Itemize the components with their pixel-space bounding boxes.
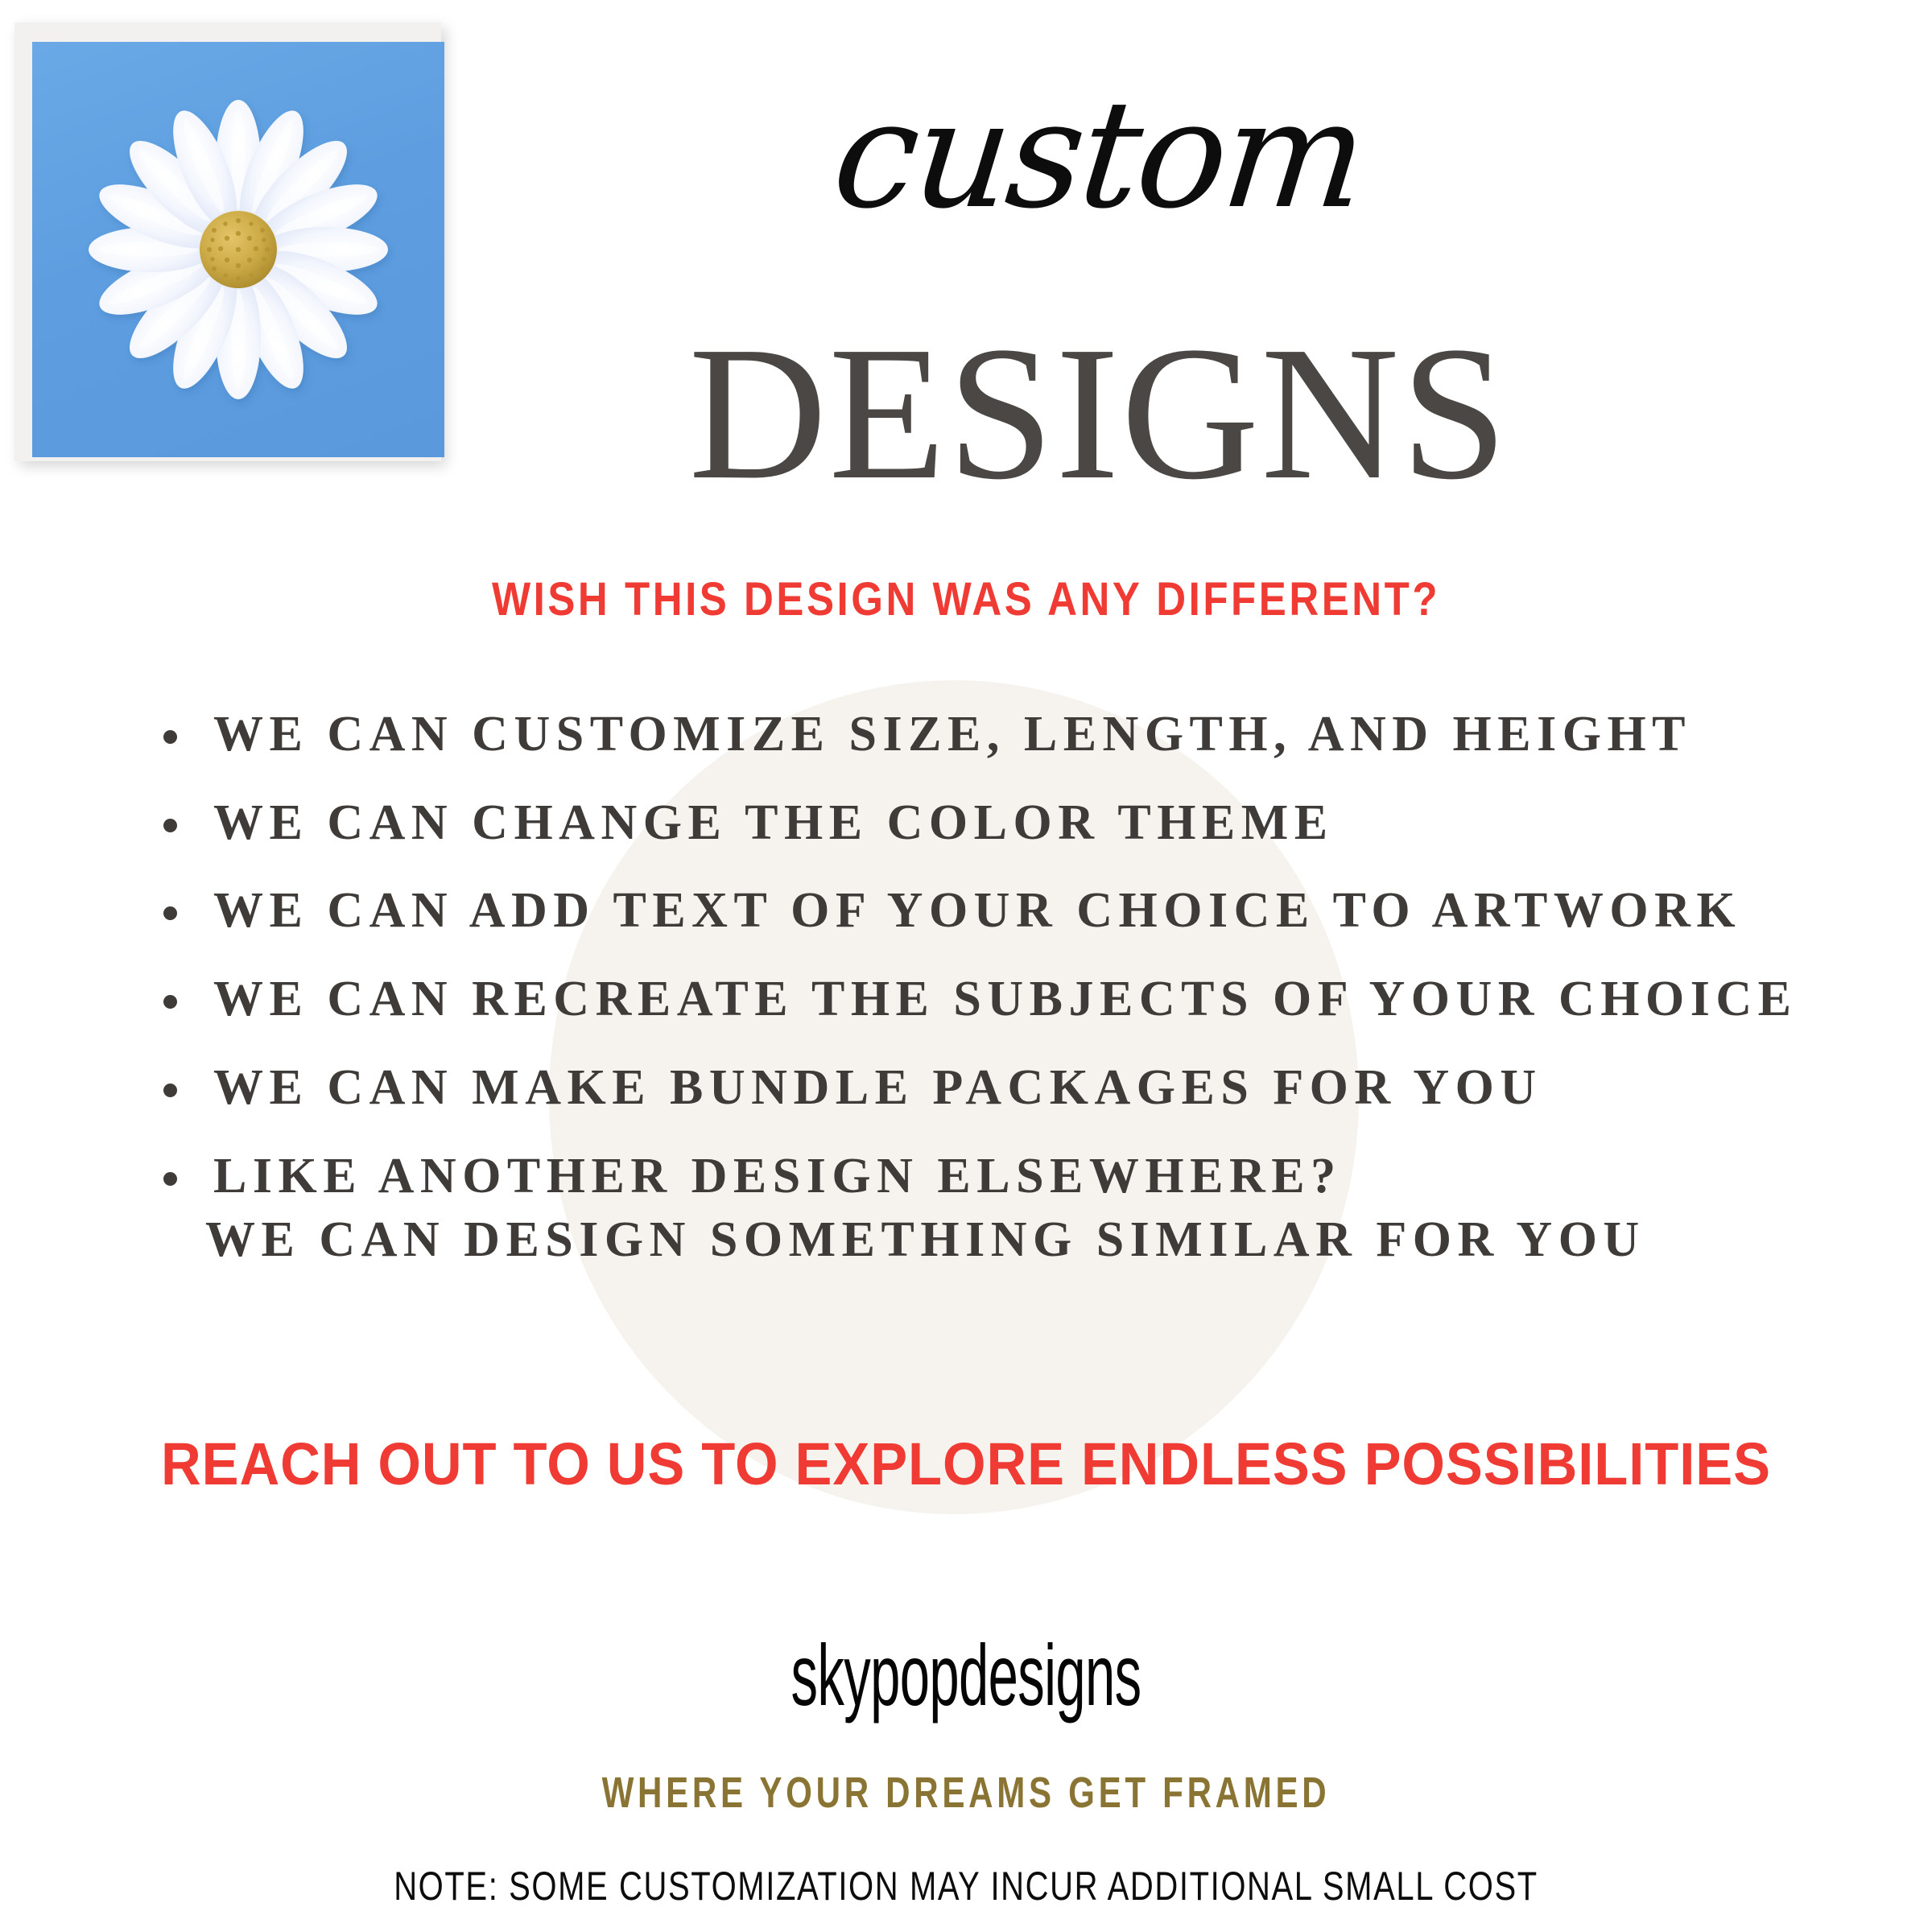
list-item: WE CAN CHANGE THE COLOR THEME xyxy=(157,797,1815,850)
list-item-label: WE CAN RECREATE THE SUBJECTS OF YOUR CHO… xyxy=(213,972,1798,1026)
list-item: WE CAN ADD TEXT OF YOUR CHOICE TO ARTWOR… xyxy=(157,885,1815,938)
bullet-dot-icon xyxy=(163,906,177,920)
bullet-dot-icon xyxy=(163,1084,177,1097)
footer-note: NOTE: SOME CUSTOMIZATION MAY INCUR ADDIT… xyxy=(193,1866,1739,1906)
bullet-dot-icon xyxy=(163,819,177,832)
list-item: WE CAN RECREATE THE SUBJECTS OF YOUR CHO… xyxy=(157,973,1815,1026)
list-item-label: WE CAN CUSTOMIZE SIZE, LENGTH, AND HEIGH… xyxy=(213,707,1691,762)
bullet-dot-icon xyxy=(163,1172,177,1186)
list-item-label: WE CAN MAKE BUNDLE PACKAGES FOR YOU xyxy=(213,1060,1542,1115)
brand-name: skypopdesigns xyxy=(367,1632,1565,1719)
list-item-continuation: WE CAN DESIGN SOMETHING SIMILAR FOR YOU xyxy=(205,1214,1645,1267)
brand-tagline: WHERE YOUR DREAMS GET FRAMED xyxy=(213,1771,1719,1814)
page-title-script: custom xyxy=(0,80,1932,229)
list-item-label: WE CAN ADD TEXT OF YOUR CHOICE TO ARTWOR… xyxy=(213,883,1741,938)
bullet-dot-icon xyxy=(163,995,177,1009)
list-item-label: WE CAN CHANGE THE COLOR THEME xyxy=(213,795,1334,850)
list-item-label: LIKE ANOTHER DESIGN ELSEWHERE? xyxy=(213,1149,1342,1203)
bullet-dot-icon xyxy=(163,730,177,744)
page-title-main: DESIGNS xyxy=(0,318,1932,510)
list-item: LIKE ANOTHER DESIGN ELSEWHERE? xyxy=(157,1150,1815,1203)
list-item: WE CAN MAKE BUNDLE PACKAGES FOR YOU xyxy=(157,1062,1815,1115)
feature-list: WE CAN CUSTOMIZE SIZE, LENGTH, AND HEIGH… xyxy=(157,708,1815,1238)
page-subtitle: WISH THIS DESIGN WAS ANY DIFFERENT? xyxy=(116,576,1816,623)
list-item: WE CAN CUSTOMIZE SIZE, LENGTH, AND HEIGH… xyxy=(157,708,1815,762)
call-to-action-text: REACH OUT TO US TO EXPLORE ENDLESS POSSI… xyxy=(68,1435,1864,1494)
